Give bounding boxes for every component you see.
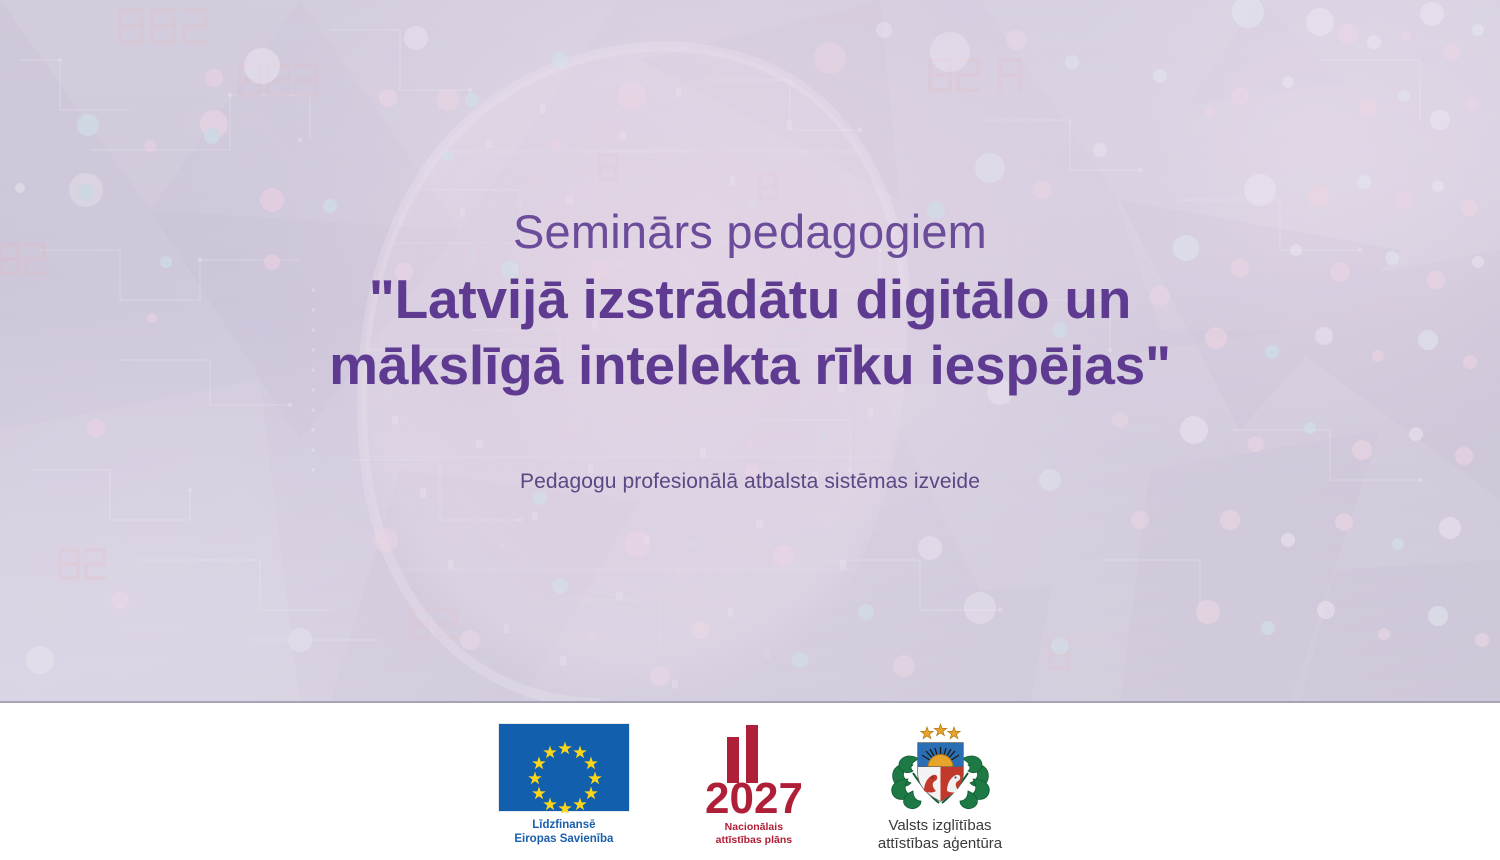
nap-year-text: 2027 [705, 774, 803, 815]
slide-title: "Latvijā izstrādātu digitālo un mākslīgā… [329, 266, 1171, 398]
eu-caption-line-1: Līdzfinansē [514, 818, 613, 832]
eu-caption-line-2: Eiropas Savienība [514, 832, 613, 846]
slide-kicker: Seminārs pedagogiem [513, 207, 987, 257]
latvian-coat-of-arms-icon [883, 723, 998, 811]
logo-eu: Līdzfinansē Eiropas Savienība [498, 723, 630, 846]
logo-nap-2027: 2027 Nacionālais attīstības plāns [694, 723, 814, 847]
footer-logo-bar: Līdzfinansē Eiropas Savienība 2027 Nacio… [0, 705, 1500, 860]
nap-logo-caption: Nacionālais attīstības plāns [716, 821, 792, 847]
eu-flag-icon [498, 723, 630, 812]
viaa-logo-caption: Valsts izglītības attīstības aģentūra [878, 817, 1002, 854]
slide-title-line-2: mākslīgā intelekta rīku iespējas" [329, 332, 1171, 398]
presentation-slide: Seminārs pedagogiem "Latvijā izstrādātu … [0, 0, 1500, 860]
slide-subtitle: Pedagogu profesionālā atbalsta sistēmas … [520, 470, 980, 494]
nap-caption-line-2: attīstības plāns [716, 834, 792, 847]
slide-title-line-1: "Latvijā izstrādātu digitālo un [329, 266, 1171, 332]
viaa-caption-line-1: Valsts izglītības [878, 817, 1002, 835]
eu-logo-caption: Līdzfinansē Eiropas Savienība [514, 818, 613, 846]
eu-stars-icon [499, 724, 631, 813]
nap-mark-icon: 2027 [694, 723, 814, 815]
logo-viaa: Valsts izglītības attīstības aģentūra [878, 723, 1002, 854]
viaa-caption-line-2: attīstības aģentūra [878, 835, 1002, 853]
nap-caption-line-1: Nacionālais [716, 821, 792, 834]
hero-text-block: Seminārs pedagogiem "Latvijā izstrādātu … [0, 0, 1500, 701]
hero-banner: Seminārs pedagogiem "Latvijā izstrādātu … [0, 0, 1500, 703]
